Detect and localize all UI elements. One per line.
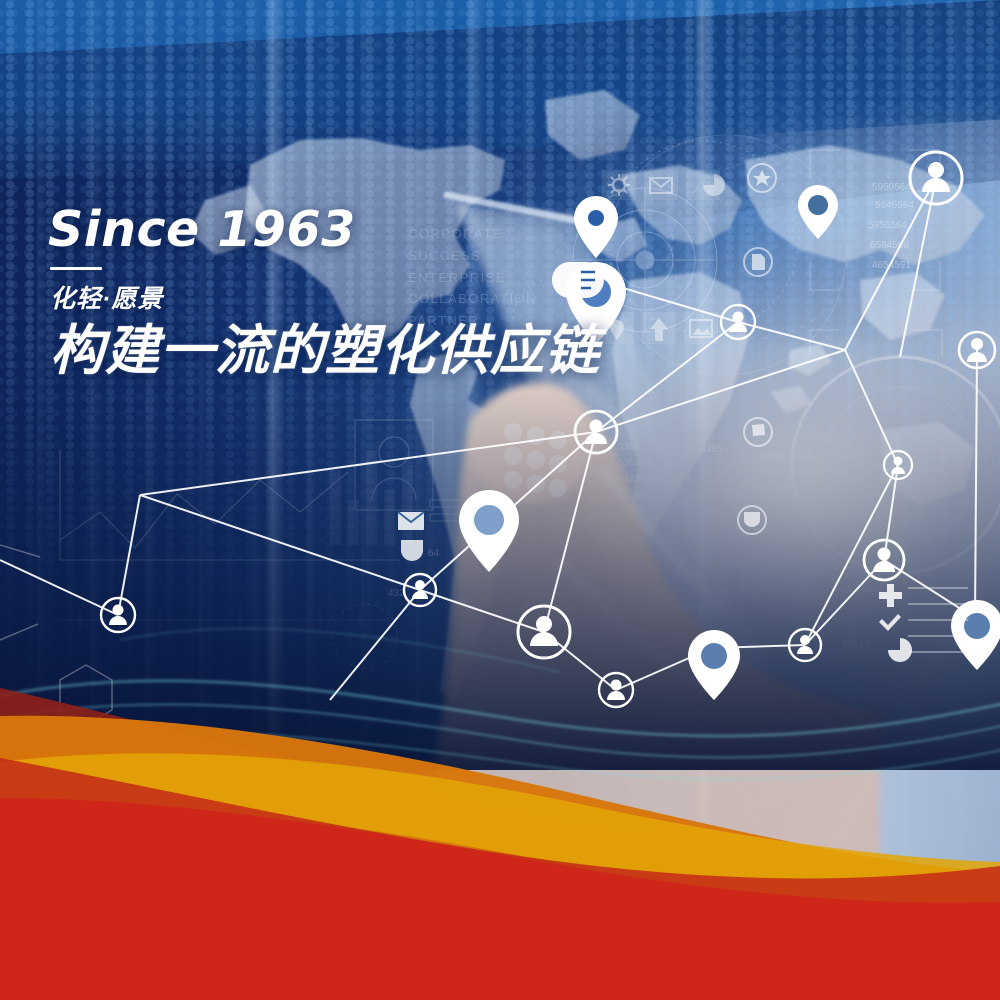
page-title: 构建一流的塑化供应链 xyxy=(50,321,600,381)
headline-block: Since 1963 化轻·愿景 构建一流的塑化供应链 xyxy=(48,205,600,381)
subtitle-text: 化轻·愿景 xyxy=(50,279,600,315)
wave-decoration xyxy=(0,670,1000,1000)
wave-solid-fill xyxy=(0,920,1000,1000)
eyebrow-text: Since 1963 xyxy=(48,205,600,254)
divider-rule xyxy=(50,267,102,270)
banner-root: CORPORATE SUCCESS ENTERPRISE COLLABORATI… xyxy=(0,0,1000,1000)
